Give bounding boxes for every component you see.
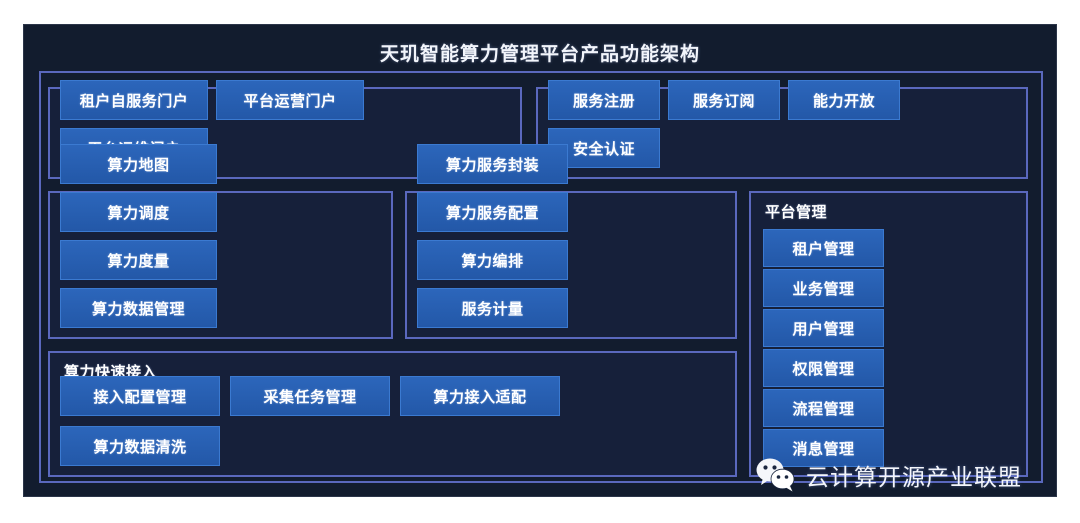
diagram-title: 天玑智能算力管理平台产品功能架构 bbox=[24, 39, 1056, 66]
section-fast-access: 算力快速接入 接入配置管理 采集任务管理 算力接入适配 算力数据清洗 bbox=[48, 351, 737, 477]
tile-compute-access-adaptation[interactable]: 算力接入适配 bbox=[400, 376, 560, 416]
tile-compute-service-configuration[interactable]: 算力服务配置 bbox=[417, 192, 568, 232]
section-fast-access-tiles: 接入配置管理 采集任务管理 算力接入适配 算力数据清洗 bbox=[60, 376, 725, 466]
architecture-diagram-panel: 天玑智能算力管理平台产品功能架构 多算管理门户 租户自服务门户 平台运营门户 平… bbox=[23, 24, 1057, 497]
tile-user-management[interactable]: 用户管理 bbox=[763, 309, 884, 347]
tile-service-subscription[interactable]: 服务订阅 bbox=[668, 80, 780, 120]
tile-platform-operation-portal[interactable]: 平台运营门户 bbox=[216, 80, 364, 120]
tile-process-management[interactable]: 流程管理 bbox=[763, 389, 884, 427]
tile-access-configuration-management[interactable]: 接入配置管理 bbox=[60, 376, 220, 416]
watermark: 云计算开源产业联盟 bbox=[756, 458, 1022, 492]
section-platform-management-tiles: 租户管理 业务管理 用户管理 权限管理 流程管理 消息管理 bbox=[763, 229, 1014, 467]
tile-capability-opening[interactable]: 能力开放 bbox=[788, 80, 900, 120]
section-awareness: 算力感知 算力地图 算力调度 算力度量 算力数据管理 bbox=[48, 191, 393, 339]
tile-permission-management[interactable]: 权限管理 bbox=[763, 349, 884, 387]
tile-compute-map[interactable]: 算力地图 bbox=[60, 144, 217, 184]
tile-compute-metering[interactable]: 算力度量 bbox=[60, 240, 217, 280]
tile-service-registration[interactable]: 服务注册 bbox=[548, 80, 660, 120]
wechat-icon bbox=[756, 458, 798, 492]
section-orchestration-tiles: 算力服务封装 算力服务配置 算力编排 服务计量 bbox=[417, 144, 725, 328]
tile-compute-data-cleaning[interactable]: 算力数据清洗 bbox=[60, 426, 220, 466]
tile-compute-orchestration[interactable]: 算力编排 bbox=[417, 240, 568, 280]
section-platform-management-title: 平台管理 bbox=[765, 201, 827, 222]
tile-compute-data-management[interactable]: 算力数据管理 bbox=[60, 288, 217, 328]
section-awareness-tiles: 算力地图 算力调度 算力度量 算力数据管理 bbox=[60, 144, 381, 328]
section-orchestration: 算力编排 算力服务封装 算力服务配置 算力编排 服务计量 bbox=[405, 191, 737, 339]
tile-tenant-management[interactable]: 租户管理 bbox=[763, 229, 884, 267]
tile-collection-task-management[interactable]: 采集任务管理 bbox=[230, 376, 390, 416]
tile-compute-scheduling[interactable]: 算力调度 bbox=[60, 192, 217, 232]
section-platform-management: 平台管理 租户管理 业务管理 用户管理 权限管理 流程管理 消息管理 bbox=[749, 191, 1028, 477]
tile-business-management[interactable]: 业务管理 bbox=[763, 269, 884, 307]
tile-compute-service-packaging[interactable]: 算力服务封装 bbox=[417, 144, 568, 184]
tile-service-metering[interactable]: 服务计量 bbox=[417, 288, 568, 328]
tile-tenant-self-service-portal[interactable]: 租户自服务门户 bbox=[60, 80, 208, 120]
watermark-text: 云计算开源产业联盟 bbox=[806, 458, 1022, 492]
